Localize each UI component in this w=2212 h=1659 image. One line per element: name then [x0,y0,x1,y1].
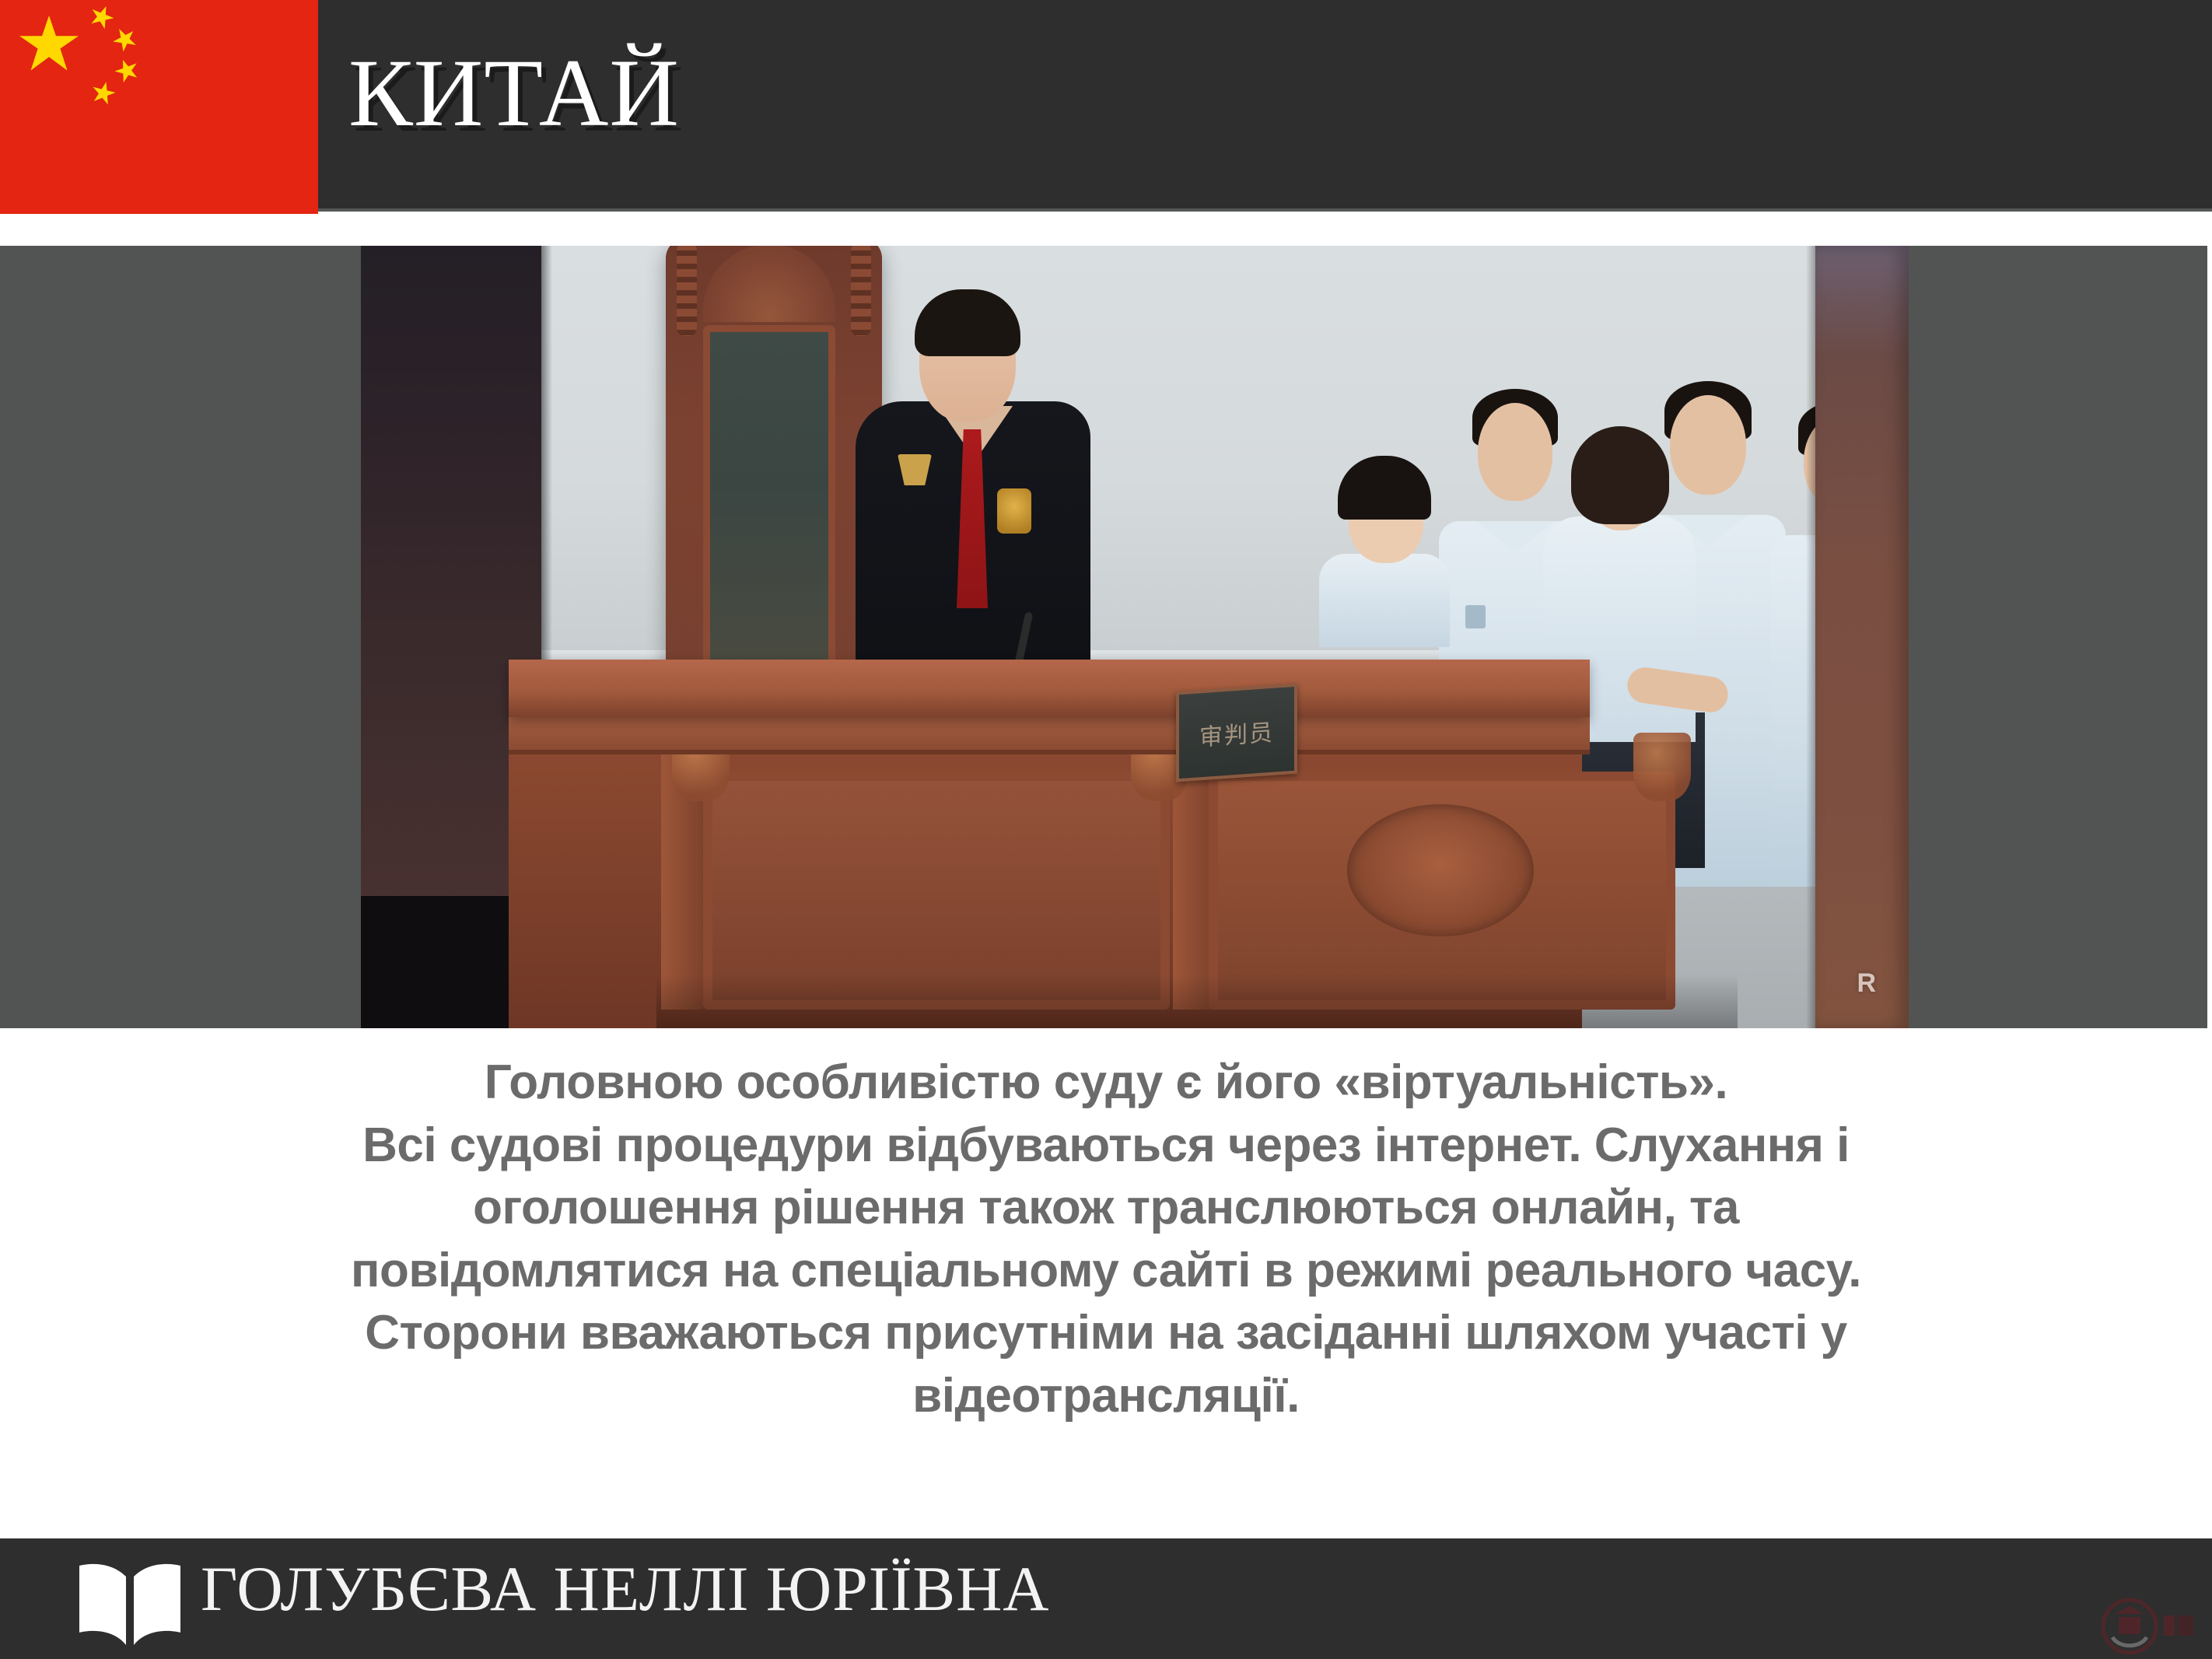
body-line: повідомлятися на спеціальному сайті в ре… [117,1240,2095,1303]
author-name: ГОЛУБЄВА НЕЛЛІ ЮРІЇВНА [201,1557,1050,1621]
bench-nameplate-text: 审判员 [1199,713,1274,753]
body-line: Всі судові процедури відбуваються через … [117,1115,2095,1178]
judge-badge-icon [997,488,1031,534]
slide-title: КИТАЙ [348,45,680,142]
open-book-icon [72,1558,188,1653]
bench-nameplate: 审判员 [1176,684,1297,782]
bench-top-surface [509,660,1590,717]
chair-crest [703,246,835,322]
flag-star-small-2 [109,23,142,56]
photo-watermark: R [1857,968,1876,999]
courtroom-photo: 审判员 R [361,246,1909,1028]
header-accent-line [0,208,2212,212]
header-bar [0,0,2212,209]
flag-star-small-3 [112,56,142,86]
bench-medallion [1347,804,1534,936]
chair-post-left [677,246,697,336]
right-pillar-edge [1806,246,1815,1028]
body-line: Головною особливістю суду є його «віртуа… [117,1052,2095,1115]
body-line: оголошення рішення також транслюються он… [117,1177,2095,1240]
seated-man-body [1319,554,1450,647]
seated-woman-hair [1571,426,1669,524]
photo-band: 审判员 R [0,246,2207,1028]
corner-logo-watermark [2095,1591,2196,1659]
body-line: Сторони вважаються присутніми на засідан… [117,1302,2095,1365]
flag-star-small-4 [89,79,117,107]
person-head [1478,403,1552,501]
right-brown-pillar [1815,246,1909,1028]
judge-chair [666,246,882,720]
presentation-slide: КИТАЙ [0,0,2212,1659]
chair-backrest [703,325,835,683]
flag-star-small-1 [87,2,117,31]
footer-bar: ГОЛУБЄВА НЕЛЛІ ЮРІЇВНА [0,1538,2212,1659]
bench-shadow [656,974,1738,1028]
slide-body-text: Головною особливістю суду є його «віртуа… [117,1052,2095,1428]
bench-carving [1633,733,1691,801]
bench-lip [509,714,1590,754]
flag-of-china-icon [0,0,318,214]
person-pocket [1465,605,1486,628]
chair-post-right [851,246,871,336]
flag-star-large [19,16,79,73]
body-line: відеотрансляції. [117,1365,2095,1428]
person-head [1670,395,1746,495]
